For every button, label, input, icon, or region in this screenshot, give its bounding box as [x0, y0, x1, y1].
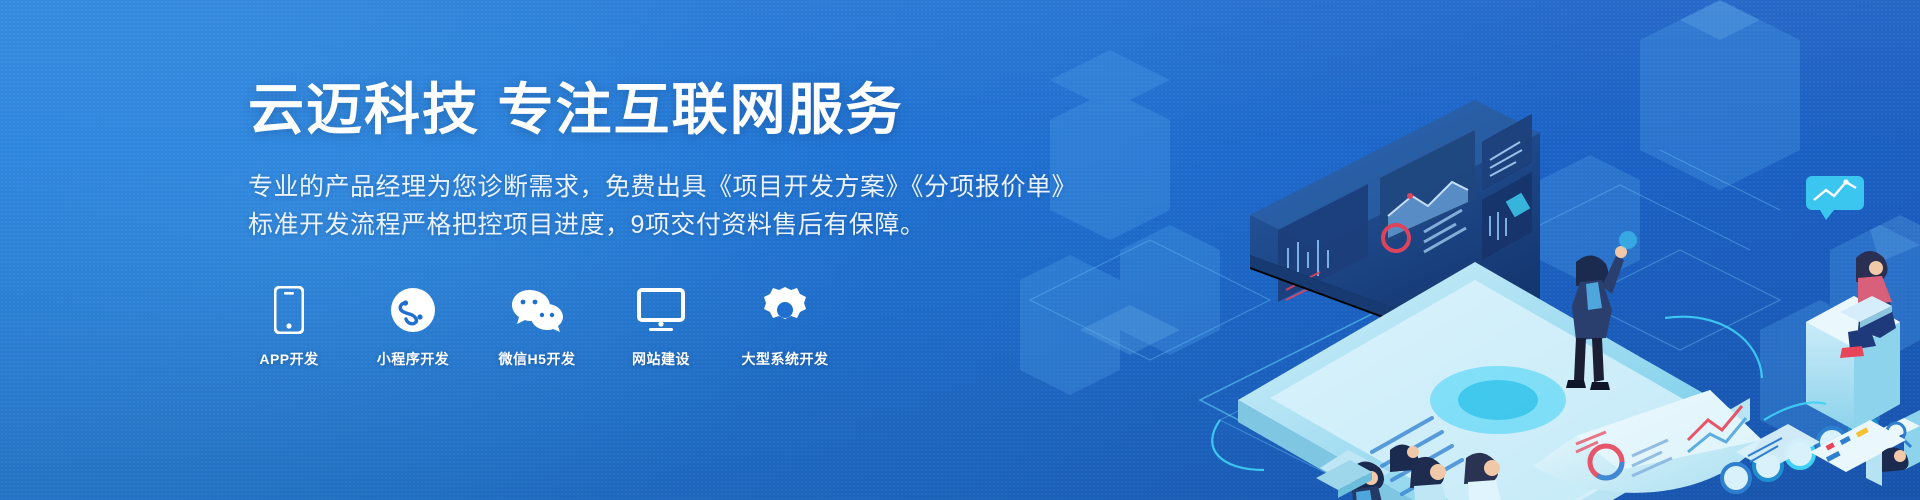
- hero-banner: 云迈科技 专注互联网服务 专业的产品经理为您诊断需求，免费出具《项目开发方案》《…: [0, 0, 1920, 500]
- page-title: 云迈科技 专注互联网服务: [248, 78, 1188, 142]
- service-list: APP开发 小程序开发: [250, 285, 824, 369]
- mini-program-icon: [390, 285, 436, 335]
- service-label: 大型系统开发: [742, 349, 829, 369]
- monitor-icon: [637, 285, 685, 335]
- service-item-website[interactable]: 网站建设: [622, 285, 700, 369]
- subtitle-line-2: 标准开发流程严格把控项目进度，9项交付资料售后有保障。: [248, 206, 1188, 244]
- isometric-illustration: [1020, 0, 1920, 500]
- hero-subtitle: 专业的产品经理为您诊断需求，免费出具《项目开发方案》《分项报价单》 标准开发流程…: [248, 168, 1188, 244]
- gear-icon: [762, 285, 808, 335]
- smartphone-icon: [274, 285, 304, 335]
- service-label: APP开发: [259, 349, 318, 369]
- hero-copy: 云迈科技 专注互联网服务 专业的产品经理为您诊断需求，免费出具《项目开发方案》《…: [248, 78, 1188, 244]
- service-label: 小程序开发: [377, 349, 450, 369]
- wechat-icon: [511, 285, 563, 335]
- service-item-mini-program[interactable]: 小程序开发: [374, 285, 452, 369]
- service-item-app[interactable]: APP开发: [250, 285, 328, 369]
- service-item-wechat-h5[interactable]: 微信H5开发: [498, 285, 576, 369]
- service-item-large-system[interactable]: 大型系统开发: [746, 285, 824, 369]
- service-label: 微信H5开发: [499, 349, 576, 369]
- service-label: 网站建设: [632, 349, 690, 369]
- subtitle-line-1: 专业的产品经理为您诊断需求，免费出具《项目开发方案》《分项报价单》: [248, 168, 1188, 206]
